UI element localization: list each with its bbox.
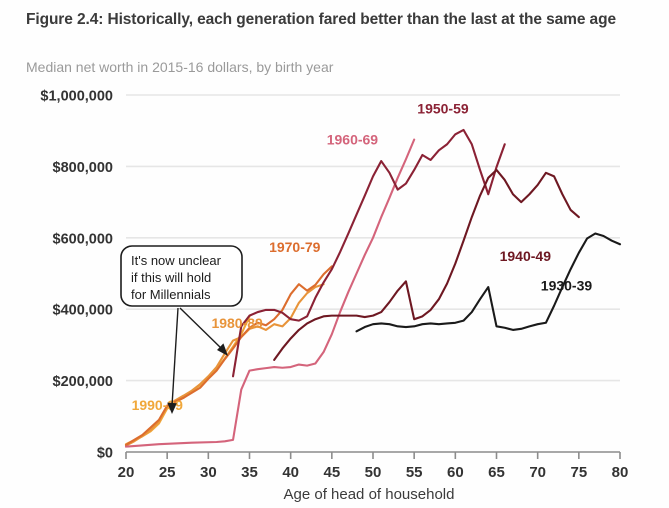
x-tick-label: 40	[282, 464, 299, 481]
y-tick-label: $1,000,000	[40, 89, 113, 105]
y-tick-label: $400,000	[53, 303, 113, 319]
series-label-1960-69: 1960-69	[327, 131, 379, 147]
x-tick-label: 25	[159, 464, 176, 481]
x-tick-label: 60	[447, 464, 464, 481]
callout-line-3: for Millennials	[131, 287, 211, 302]
series-label-1950-59: 1950-59	[417, 101, 469, 117]
x-tick-label: 55	[406, 464, 423, 481]
series-label-1930-39: 1930-39	[541, 278, 593, 294]
x-tick-label: 75	[570, 464, 587, 481]
x-tick-label: 80	[612, 464, 629, 481]
series-label-1940-49: 1940-49	[500, 248, 552, 264]
x-tick-labels-group: 20253035404550556065707580	[118, 464, 629, 481]
y-tick-label: $800,000	[53, 160, 113, 176]
callout-arrow-to-1990s	[172, 308, 178, 406]
callout-line-2: if this will hold	[131, 270, 211, 285]
x-tick-label: 35	[241, 464, 258, 481]
y-tick-label: $0	[97, 446, 113, 462]
x-axis-title: Age of head of household	[284, 486, 455, 503]
x-tick-label: 30	[200, 464, 217, 481]
figure-container: Figure 2.4: Historically, each generatio…	[0, 0, 669, 508]
y-tick-label: $600,000	[53, 231, 113, 247]
y-tick-label: $200,000	[53, 374, 113, 390]
x-tick-label: 70	[529, 464, 546, 481]
x-tick-label: 65	[488, 464, 505, 481]
series-label-1970-79: 1970-79	[269, 239, 321, 255]
x-tick-label: 50	[365, 464, 382, 481]
series-label-1980-89: 1980-89	[211, 315, 263, 331]
y-tick-labels-group: $0$200,000$400,000$600,000$800,000$1,000…	[40, 89, 113, 462]
x-tick-label: 45	[323, 464, 340, 481]
series-line-1940-49	[274, 170, 579, 360]
x-tick-label: 20	[118, 464, 135, 481]
chart-svg: 1990-991980-891970-791960-691950-591940-…	[0, 0, 669, 508]
callout-line-1: It's now unclear	[131, 253, 222, 268]
axes-group	[126, 452, 620, 459]
